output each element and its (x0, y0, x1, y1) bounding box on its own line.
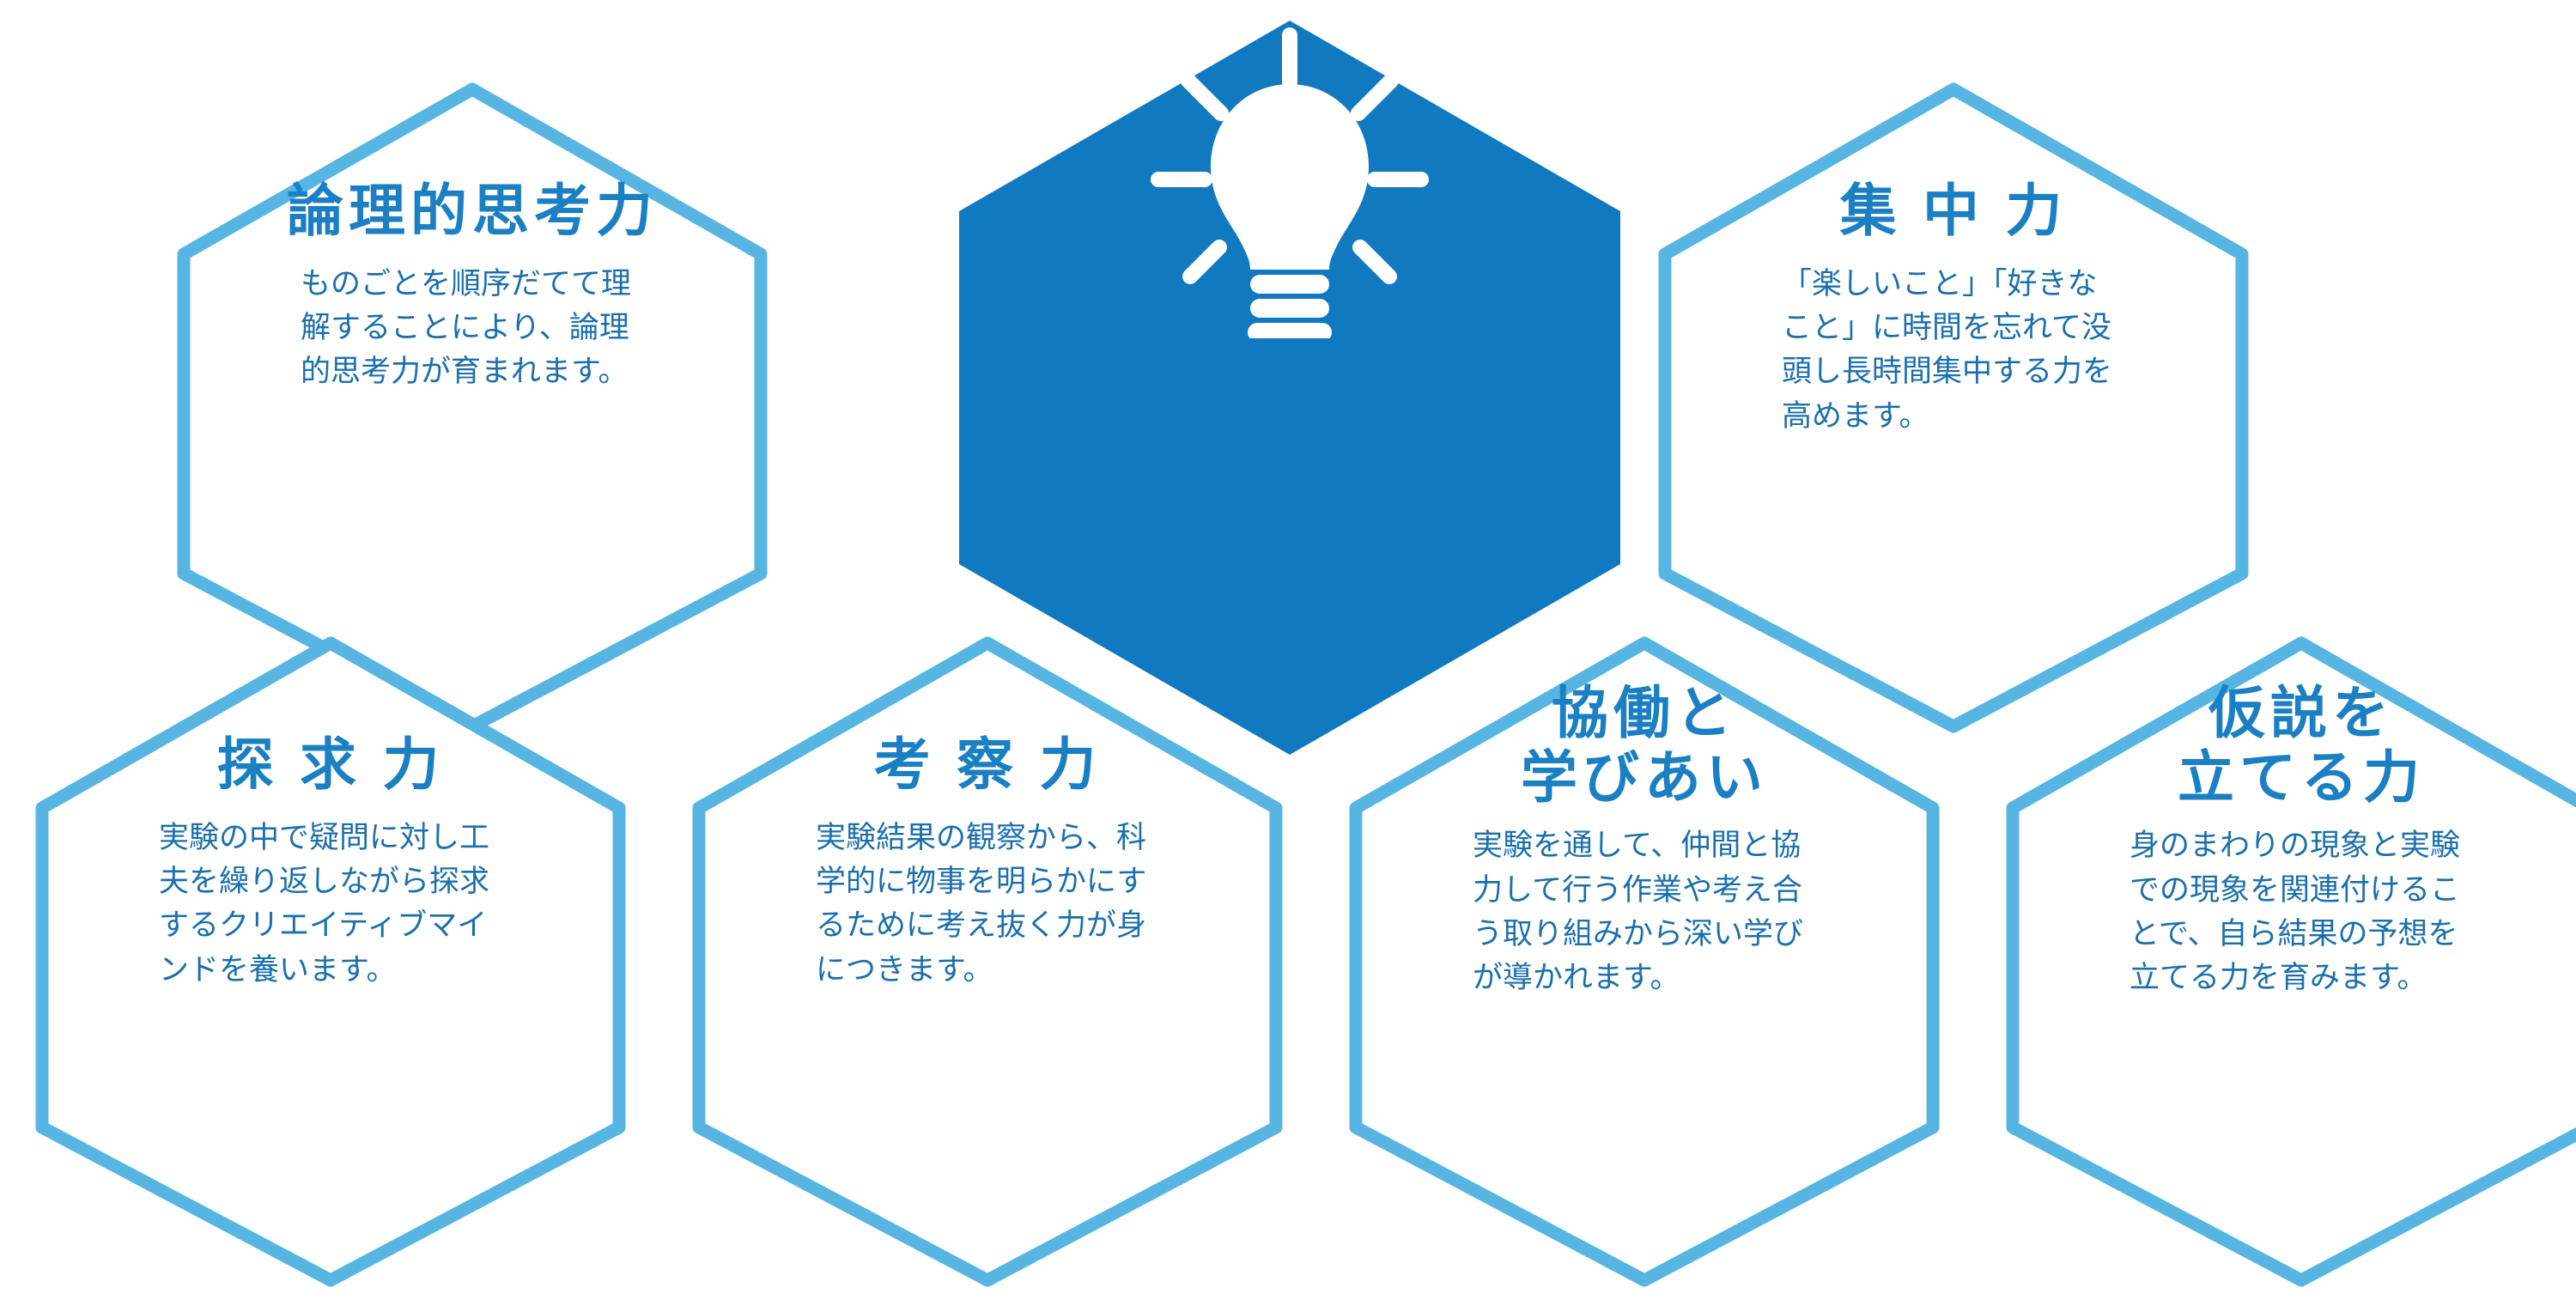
hex-cell-inquiry: 探 求 力 実験の中で疑問に対し工夫を繰り返しながら探求するクリエイティブマイン… (30, 631, 631, 1292)
hex-body: 「楽しいこと」「好きなこと」に時間を忘れて没頭し長時間集中する力を高めます。 (1782, 262, 2125, 437)
hex-body: ものごとを順序だてて理解することにより、論理的思考力が育まれます。 (301, 262, 644, 393)
hex-body: 実験結果の観察から、科学的に物事を明らかにするために考え抜く力が身につきます。 (816, 816, 1159, 991)
hex-title: 考 察 力 (874, 732, 1102, 797)
hex-body: 実験を通して、仲間と協力して行う作業や考え合う取り組みから深い学びが導かれます。 (1473, 823, 1816, 999)
hex-title: 論理的思考力 (287, 179, 658, 243)
hex-content: 協働と 学びあい 実験を通して、仲間と協力して行う作業や考え合う取り組みから深い… (1344, 631, 1945, 1292)
hexagon-infographic: 論理的思考力 ものごとを順序だてて理解することにより、論理的思考力が育まれます。… (0, 0, 2576, 1312)
hex-title: 協働と 学びあい (1521, 681, 1768, 810)
hex-title: 集 中 力 (1840, 179, 2068, 243)
hex-cell-collaboration: 協働と 学びあい 実験を通して、仲間と協力して行う作業や考え合う取り組みから深い… (1344, 631, 1945, 1292)
hex-title: 仮説を 立てる力 (2178, 681, 2425, 810)
hex-content: 探 求 力 実験の中で疑問に対し工夫を繰り返しながら探求するクリエイティブマイン… (30, 631, 631, 1292)
hex-body: 身のまわりの現象と実験での現象を関連付けることで、自ら結果の予想を立てる力を育み… (2129, 823, 2473, 999)
hex-content: 仮説を 立てる力 身のまわりの現象と実験での現象を関連付けることで、自ら結果の予… (2001, 631, 2576, 1292)
hex-title: 探 求 力 (217, 732, 445, 797)
hex-cell-consideration: 考 察 力 実験結果の観察から、科学的に物事を明らかにするために考え抜く力が身に… (687, 631, 1288, 1292)
hex-content: 考 察 力 実験結果の観察から、科学的に物事を明らかにするために考え抜く力が身に… (687, 631, 1288, 1292)
lightbulb-icon (1144, 12, 1436, 338)
hex-cell-hypothesis: 仮説を 立てる力 身のまわりの現象と実験での現象を関連付けることで、自ら結果の予… (2001, 631, 2576, 1292)
hex-body: 実験の中で疑問に対し工夫を繰り返しながら探求するクリエイティブマインドを養います… (159, 816, 502, 991)
